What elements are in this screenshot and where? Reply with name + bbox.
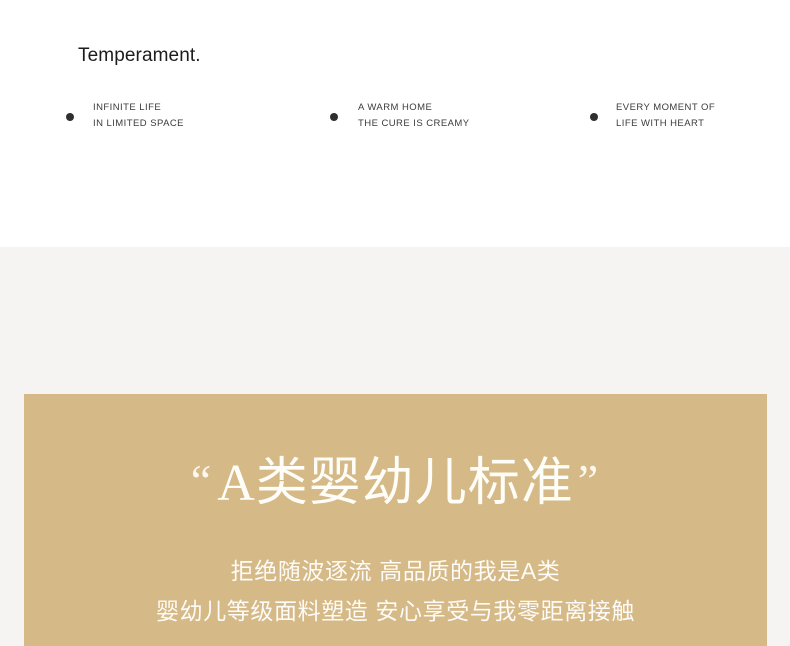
feature-item-2: A WARM HOME THE CURE IS CREAMY	[330, 100, 470, 132]
bullet-dot-icon	[330, 113, 338, 121]
quote-subtitle-line-2: 婴幼儿等级面料塑造 安心享受与我零距离接触	[24, 591, 767, 631]
feature-text-2: A WARM HOME THE CURE IS CREAMY	[358, 100, 470, 132]
bullet-dot-icon	[66, 113, 74, 121]
feature-line-2-primary: A WARM HOME	[358, 100, 470, 116]
page-title: Temperament.	[78, 44, 201, 68]
feature-text-1: INFINITE LIFE IN LIMITED SPACE	[93, 100, 184, 132]
feature-line-1-primary: INFINITE LIFE	[93, 100, 184, 116]
bullet-dot-icon	[590, 113, 598, 121]
quote-subtitle-line-1: 拒绝随波逐流 高品质的我是A类	[24, 551, 767, 591]
feature-line-3-primary: EVERY MOMENT OF	[616, 100, 715, 116]
quote-heading-text: A类婴幼儿标准	[217, 455, 574, 512]
intro-section: Temperament. INFINITE LIFE IN LIMITED SP…	[0, 0, 790, 247]
quote-open-mark: “	[191, 455, 213, 506]
feature-line-3-secondary: LIFE WITH HEART	[616, 116, 715, 132]
feature-text-3: EVERY MOMENT OF LIFE WITH HEART	[616, 100, 715, 132]
beige-section: “A类婴幼儿标准” 拒绝随波逐流 高品质的我是A类 婴幼儿等级面料塑造 安心享受…	[0, 247, 790, 646]
feature-list: INFINITE LIFE IN LIMITED SPACE A WARM HO…	[0, 100, 790, 140]
feature-item-1: INFINITE LIFE IN LIMITED SPACE	[66, 100, 184, 132]
quote-heading: “A类婴幼儿标准”	[24, 450, 767, 515]
quote-panel: “A类婴幼儿标准” 拒绝随波逐流 高品质的我是A类 婴幼儿等级面料塑造 安心享受…	[24, 394, 767, 646]
feature-line-2-secondary: THE CURE IS CREAMY	[358, 116, 470, 132]
quote-close-mark: ”	[578, 455, 600, 506]
feature-item-3: EVERY MOMENT OF LIFE WITH HEART	[590, 100, 715, 132]
feature-line-1-secondary: IN LIMITED SPACE	[93, 116, 184, 132]
